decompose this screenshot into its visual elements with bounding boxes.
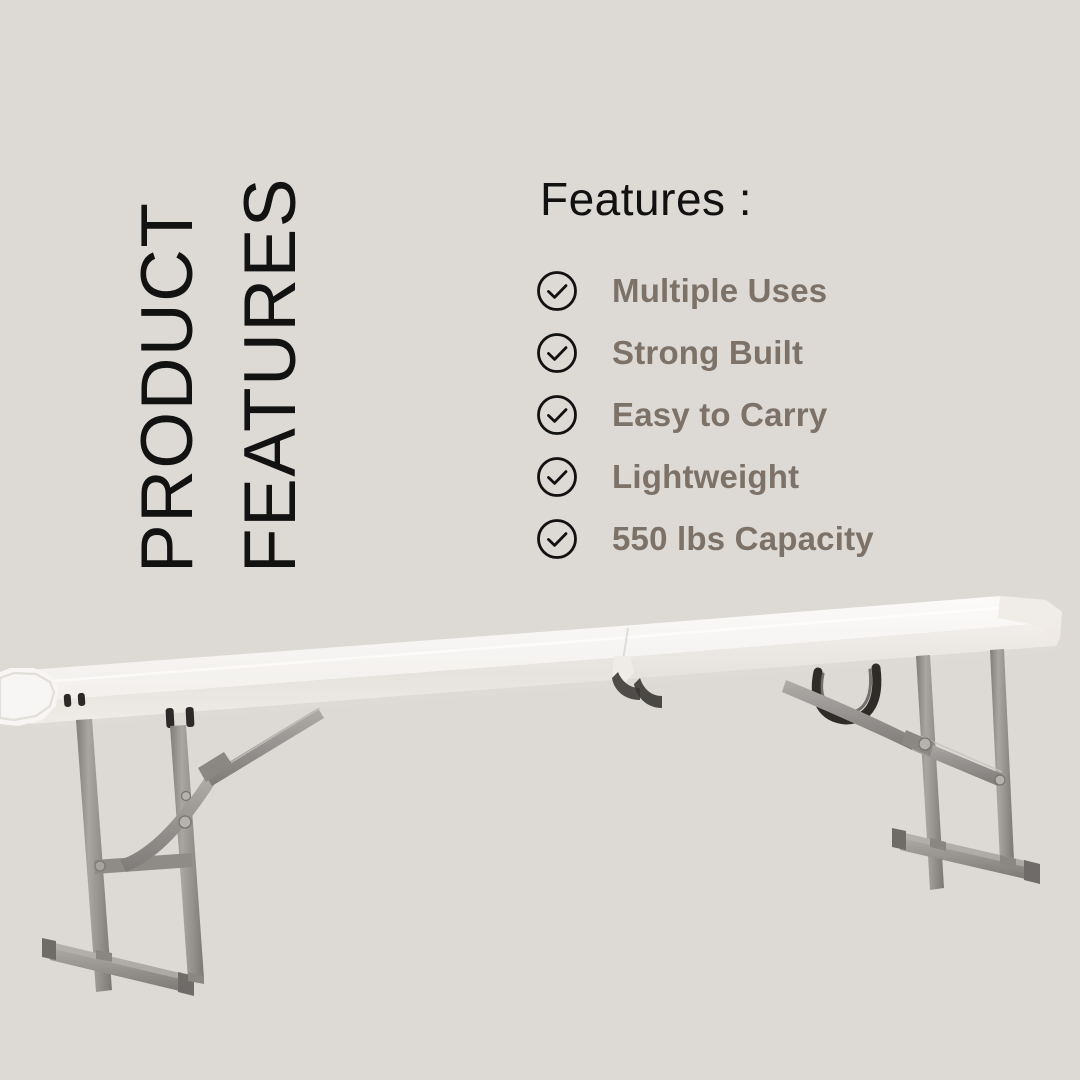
feature-label: Multiple Uses [612,272,827,310]
infographic-canvas: PRODUCT FEATURES Features : Multiple Use… [0,0,1080,1080]
bench-illustration [0,560,1080,1080]
list-item: Strong Built [536,322,1036,384]
list-item: Easy to Carry [536,384,1036,446]
product-image-folding-bench [0,560,1080,1080]
feature-label: 550 lbs Capacity [612,520,874,558]
features-heading: Features : [540,176,1036,222]
list-item: Multiple Uses [536,260,1036,322]
title-line-product: PRODUCT [126,202,209,573]
feature-label: Lightweight [612,458,799,496]
check-circle-icon [536,394,578,436]
feature-label: Easy to Carry [612,396,827,434]
check-circle-icon [536,270,578,312]
check-circle-icon [536,332,578,374]
check-circle-icon [536,456,578,498]
check-circle-icon [536,518,578,560]
features-section: Features : Multiple Uses Strong Built Ea… [536,176,1036,570]
page-title: PRODUCT FEATURES [0,0,480,600]
list-item: Lightweight [536,446,1036,508]
left-leg-assembly [42,708,324,996]
feature-label: Strong Built [612,334,803,372]
bench-top [2,596,1062,730]
right-leg-assembly [782,649,1040,890]
title-line-features: FEATURES [229,177,312,573]
